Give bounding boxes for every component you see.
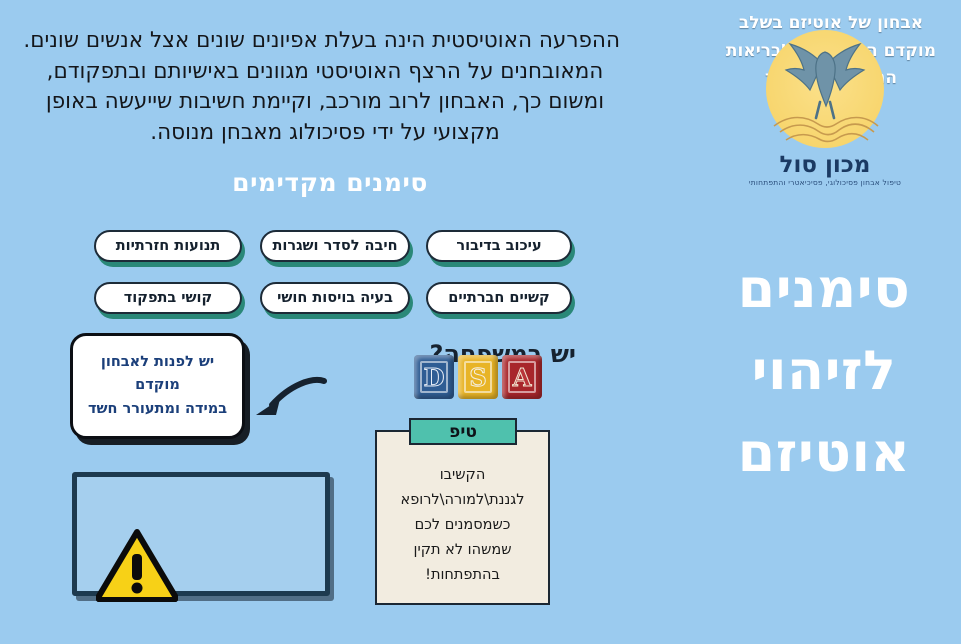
- tip-header-label: טיפ: [409, 418, 517, 445]
- intro-line: ומשום כך, האבחון לרוב מורכב, וקיימת חשיב…: [30, 87, 620, 118]
- sign-pill-repetitive-movements[interactable]: תנועות חזרתיות: [94, 230, 242, 262]
- toy-blocks-icon: A S D: [412, 355, 542, 403]
- section-title-early-signs: סימנים מקדימים: [180, 168, 480, 197]
- poster-title-line: אוטיזם: [690, 412, 958, 494]
- bubble-line: מוקדם: [135, 374, 180, 397]
- sign-pill-sensory-regulation[interactable]: בעיה בויסות חושי: [260, 282, 410, 314]
- tip-line: כשמסמנים לכם: [401, 513, 525, 538]
- tip-line: לגננת\למורה\לרופא: [401, 488, 525, 513]
- intro-line: ההפרעה האוטיסטית הינה בעלת אפיונים שונים…: [30, 26, 620, 57]
- toy-block-d: D: [414, 355, 454, 399]
- toy-block-letter: D: [424, 363, 445, 392]
- tip-line: בהתפתחות!: [401, 563, 525, 588]
- bubble-line: יש לפנות לאבחון: [101, 351, 214, 374]
- logo-subtitle: טיפול אבחון פסיכולוגי, פסיכיאטרי והתפתחו…: [700, 178, 950, 187]
- tip-line: שמשהו לא תקין: [401, 538, 525, 563]
- tip-box: הקשיבו לגננת\למורה\לרופא כשמסמנים לכם שמ…: [375, 430, 550, 605]
- tip-body: הקשיבו לגננת\למורה\לרופא כשמסמנים לכם שמ…: [401, 463, 525, 588]
- brand-logo: מכון סול טיפול אבחון פסיכולוגי, פסיכיאטר…: [700, 28, 950, 196]
- toy-block-s: S: [458, 355, 498, 399]
- early-signs-pill-grid: תנועות חזרתיות חיבה לסדר ושגרות עיכוב בד…: [78, 228, 588, 324]
- early-referral-bubble: יש לפנות לאבחון מוקדם במידה ומתעורר חשד: [70, 333, 245, 439]
- dove-over-hands-icon: [760, 28, 890, 152]
- poster-title-line: לזיהוי: [690, 330, 958, 412]
- poster-title: סימנים לזיהוי אוטיזם: [690, 248, 958, 494]
- poster-title-line: סימנים: [690, 248, 958, 330]
- intro-line: מקצועי על ידי פסיכולוג מאבחן מנוסה.: [30, 118, 620, 149]
- sign-pill-order-routine[interactable]: חיבה לסדר ושגרות: [260, 230, 410, 262]
- warning-triangle-icon: [96, 528, 178, 602]
- curved-arrow-icon: [250, 375, 330, 423]
- intro-line: המאובחנים על הרצף האוטיסטי מגוונים באישי…: [30, 57, 620, 88]
- toy-block-letter: S: [469, 363, 486, 392]
- tip-line: הקשיבו: [401, 463, 525, 488]
- infographic-canvas: ההפרעה האוטיסטית הינה בעלת אפיונים שונים…: [0, 0, 961, 644]
- sign-pill-social-difficulties[interactable]: קשיים חברתיים: [426, 282, 572, 314]
- sign-pill-speech-delay[interactable]: עיכוב בדיבור: [426, 230, 572, 262]
- intro-paragraph: ההפרעה האוטיסטית הינה בעלת אפיונים שונים…: [30, 26, 620, 148]
- bubble-line: במידה ומתעורר חשד: [88, 398, 227, 421]
- sign-pill-function-difficulty[interactable]: קושי בתפקוד: [94, 282, 242, 314]
- toy-block-a: A: [502, 355, 542, 399]
- toy-block-letter: A: [513, 363, 532, 392]
- logo-name: מכון סול: [700, 152, 950, 178]
